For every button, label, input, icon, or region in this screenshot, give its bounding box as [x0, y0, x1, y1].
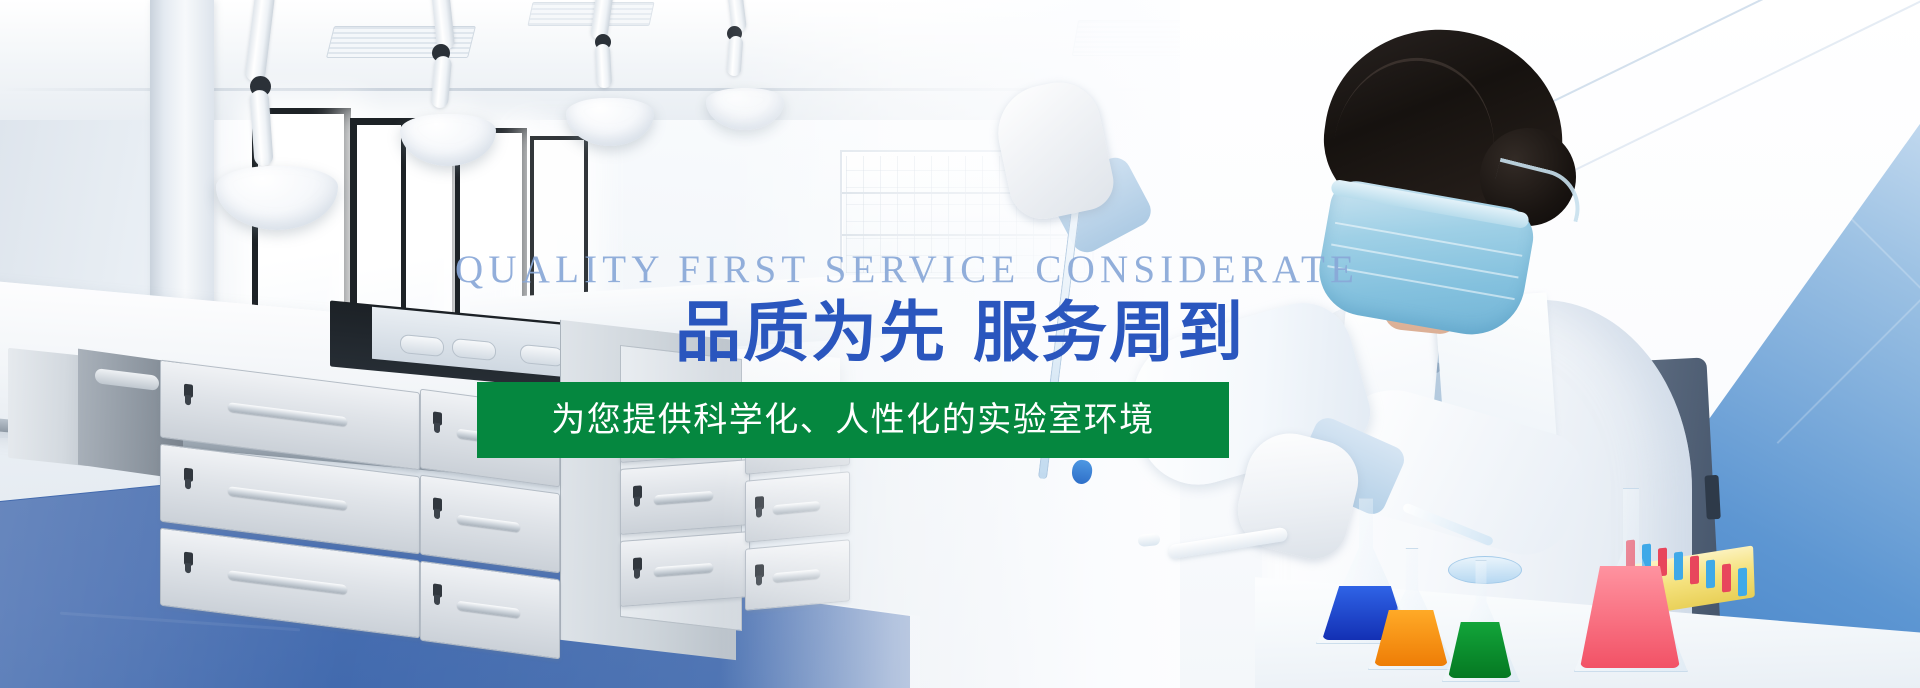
- hero-banner: QUALITY FIRST SERVICE CONSIDERATE 品质为先服务…: [0, 0, 1920, 688]
- banner-copy: QUALITY FIRST SERVICE CONSIDERATE 品质为先服务…: [0, 0, 1920, 688]
- headline: 品质为先服务周到: [455, 296, 1245, 370]
- tagline-english: QUALITY FIRST SERVICE CONSIDERATE: [455, 250, 1250, 289]
- headline-part-1: 品质为先: [675, 295, 947, 369]
- subtitle-text: 为您提供科学化、人性化的实验室环境: [551, 403, 1155, 437]
- subtitle-green-banner: 为您提供科学化、人性化的实验室环境: [477, 382, 1229, 458]
- headline-part-2: 服务周到: [973, 295, 1245, 369]
